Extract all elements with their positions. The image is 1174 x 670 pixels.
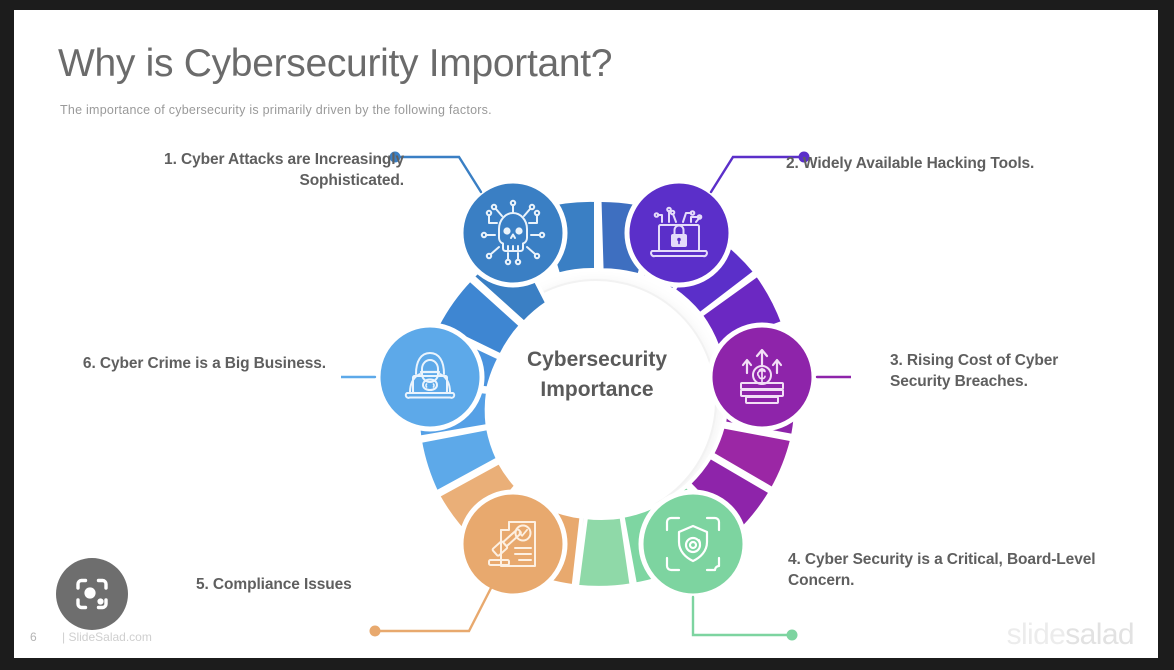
google-lens-button[interactable] — [56, 558, 128, 630]
node-6-cyber-crime[interactable] — [378, 325, 482, 429]
center-caption: Cybersecurity Importance — [482, 345, 712, 405]
node-5-compliance-issues[interactable] — [461, 492, 565, 596]
footer-page-number: 6 — [30, 630, 37, 644]
node-1-cyber-attacks[interactable] — [461, 181, 565, 285]
logo-part-salad: salad — [1065, 618, 1134, 651]
node-2-hacking-tools[interactable] — [627, 181, 731, 285]
item-label-1[interactable]: 1. Cyber Attacks are Increasingly Sophis… — [74, 150, 404, 191]
node-3-rising-cost[interactable] — [710, 325, 814, 429]
item-label-3[interactable]: 3. Rising Cost of Cyber Security Breache… — [890, 351, 1120, 392]
logo-part-slide: slide — [1007, 618, 1066, 651]
item-label-4[interactable]: 4. Cyber Security is a Critical, Board-L… — [788, 550, 1108, 591]
slide-canvas: Why is Cybersecurity Important? The impo… — [14, 10, 1158, 658]
footer-site-label: | SlideSalad.com — [62, 630, 152, 644]
page-subtitle: The importance of cybersecurity is prima… — [60, 103, 492, 117]
center-caption-line2: Importance — [482, 375, 712, 405]
item-label-6[interactable]: 6. Cyber Crime is a Big Business. — [74, 354, 326, 375]
item-label-2[interactable]: 2. Widely Available Hacking Tools. — [786, 154, 1116, 175]
node-4-board-level-concern[interactable] — [641, 492, 745, 596]
center-caption-line1: Cybersecurity — [482, 345, 712, 375]
slidesalad-logo: slidesalad — [1007, 618, 1134, 652]
page-title: Why is Cybersecurity Important? — [58, 42, 612, 86]
google-lens-icon — [72, 574, 112, 614]
item-label-5[interactable]: 5. Compliance Issues — [196, 575, 406, 596]
